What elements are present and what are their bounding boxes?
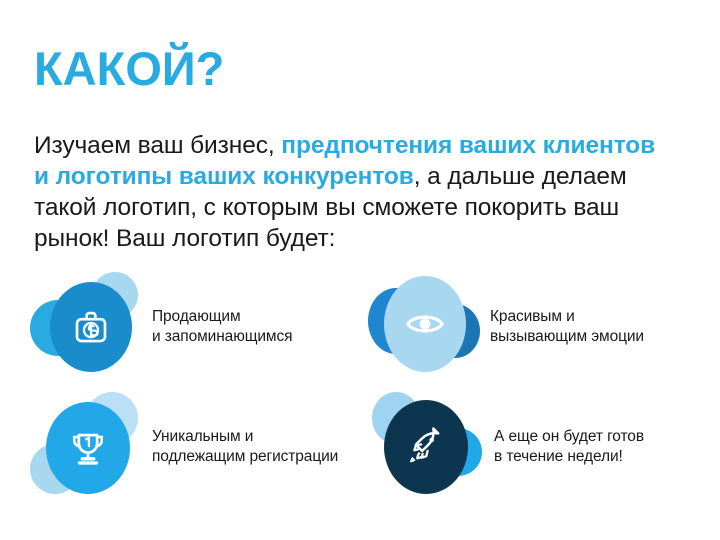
feature-item-selling: Продающим и запоминающимся <box>30 272 292 382</box>
avito-watermark: Avito <box>613 499 706 526</box>
feature-list: Продающим и запоминающимся <box>0 272 720 512</box>
slide-canvas: КАКОЙ? Изучаем ваш бизнес, предпочтения … <box>0 0 720 540</box>
avito-dots-icon <box>613 500 639 526</box>
feature-icon-circle <box>384 400 468 494</box>
intro-text-part1: Изучаем ваш бизнес, <box>34 132 281 159</box>
feature-label-line1: Красивым и <box>490 307 644 327</box>
rocket-icon <box>405 426 447 468</box>
eye-icon <box>402 301 448 347</box>
feature-label: Продающим и запоминающимся <box>152 307 292 347</box>
feature-label-line2: в течение недели! <box>494 447 644 467</box>
icon-blob-cluster <box>372 392 490 502</box>
feature-label-line1: Продающим <box>152 307 292 327</box>
page-title: КАКОЙ? <box>34 44 224 93</box>
icon-blob-cluster <box>30 392 148 502</box>
feature-item-fast-delivery: А еще он будет готов в течение недели! <box>372 392 644 502</box>
feature-icon-circle <box>46 402 130 494</box>
intro-paragraph: Изучаем ваш бизнес, предпочтения ваших к… <box>34 130 674 254</box>
briefcase-dollar-icon <box>70 306 112 348</box>
feature-icon-circle <box>50 282 132 372</box>
icon-blob-cluster <box>368 272 486 382</box>
avito-wordmark: Avito <box>642 499 706 526</box>
feature-label: Красивым и вызывающим эмоции <box>490 307 644 347</box>
feature-label: А еще он будет готов в течение недели! <box>494 427 644 467</box>
feature-label-line2: подлежащим регистрации <box>152 447 338 467</box>
feature-item-unique: Уникальным и подлежащим регистрации <box>30 392 338 502</box>
feature-label-line1: А еще он будет готов <box>494 427 644 447</box>
feature-label-line1: Уникальным и <box>152 427 338 447</box>
feature-label-line2: и запоминающимся <box>152 327 292 347</box>
feature-item-beautiful: Красивым и вызывающим эмоции <box>368 272 644 382</box>
trophy-one-icon <box>66 426 110 470</box>
feature-icon-circle <box>384 276 466 372</box>
icon-blob-cluster <box>30 272 148 382</box>
feature-label-line2: вызывающим эмоции <box>490 327 644 347</box>
feature-label: Уникальным и подлежащим регистрации <box>152 427 338 467</box>
